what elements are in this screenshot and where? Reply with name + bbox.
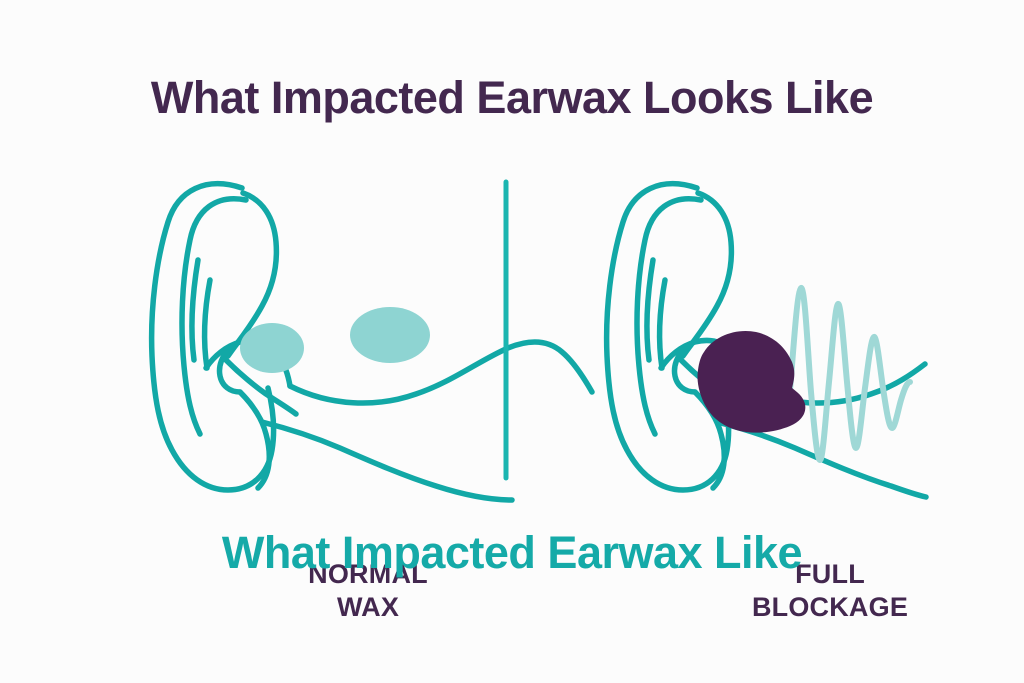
inner-fold-line-2 [205, 280, 210, 368]
infographic-canvas: What Impacted Earwax Looks Like [0, 0, 1024, 683]
diagram-area: NORMAL WAX FULL BLOCKAGE [0, 160, 1024, 500]
wax-blob-large [350, 307, 430, 363]
helix-outline [607, 184, 729, 490]
ear-diagrams-svg [0, 160, 1024, 500]
bottom-heading: What Impacted Earwax Like [0, 527, 1024, 579]
ear-canal-upper-wall [290, 342, 592, 403]
page-title: What Impacted Earwax Looks Like [0, 72, 1024, 124]
inner-fold-line [192, 260, 198, 360]
inner-fold-line-2 [660, 280, 665, 368]
label-full-blockage-line2: BLOCKAGE [700, 591, 960, 624]
earlobe [240, 392, 269, 488]
inner-fold-line [647, 260, 653, 360]
ear-canal-lower-wall [262, 422, 512, 500]
wax-blob-small [240, 323, 304, 373]
soundwave-line [790, 288, 910, 460]
antihelix-upper [683, 193, 731, 356]
normal-wax-deposits [240, 307, 430, 373]
soundwave-icon [790, 288, 910, 460]
label-normal-wax-line2: WAX [258, 591, 478, 624]
